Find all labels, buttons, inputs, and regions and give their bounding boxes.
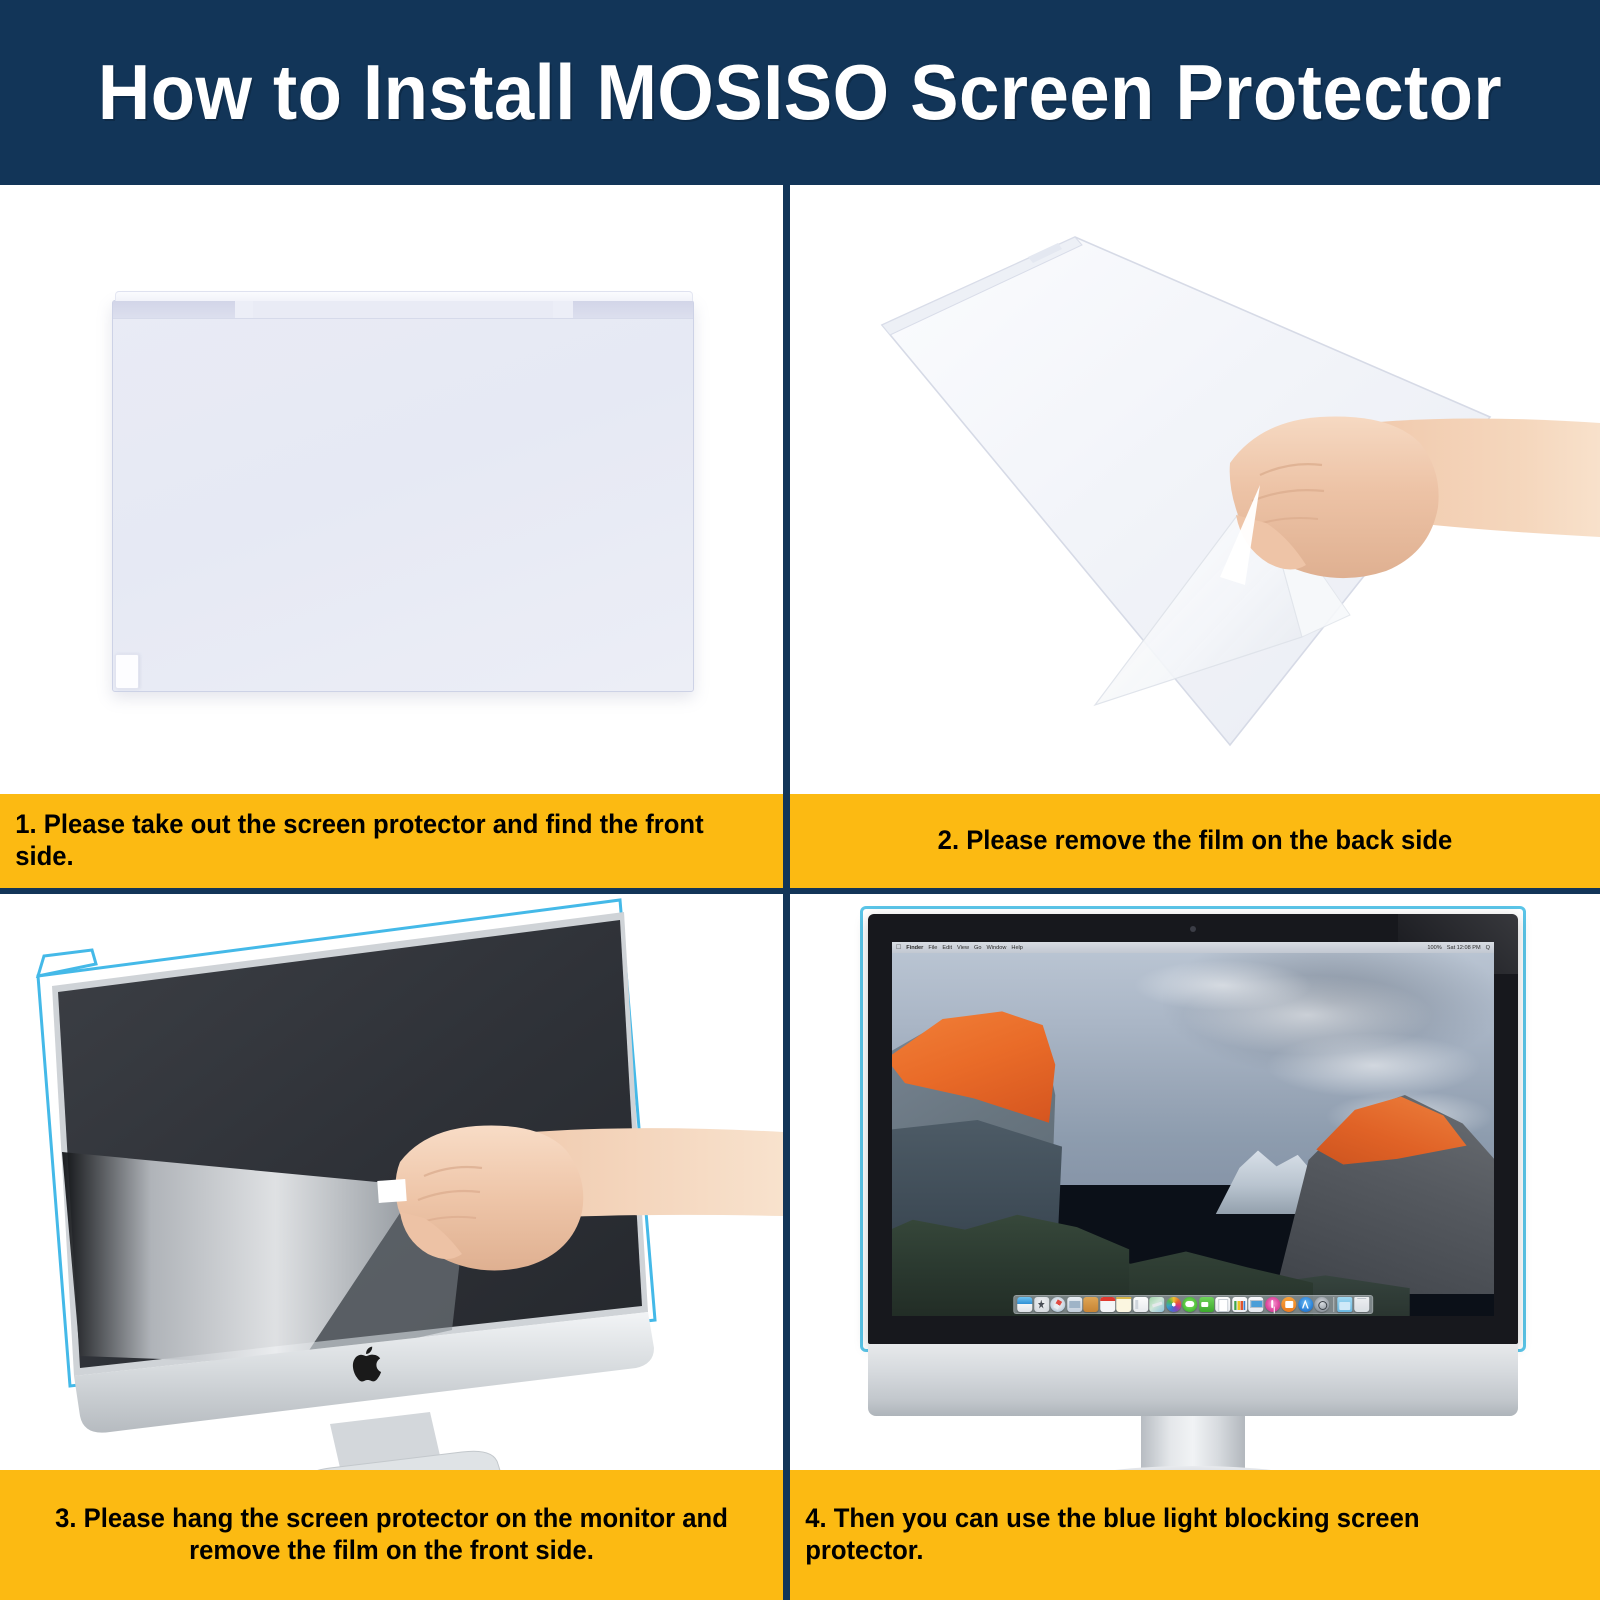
step-2-caption-text: 2. Please remove the film on the back si… [810, 825, 1580, 857]
mail-icon[interactable] [1067, 1297, 1082, 1312]
numbers-icon[interactable] [1232, 1297, 1247, 1312]
steps-grid: 1. Please take out the screen protector … [0, 185, 1600, 1600]
step-2-caption-bar: 2. Please remove the film on the back si… [790, 794, 1600, 888]
macos-menu-bar[interactable]:  Finder File Edit View Go Window Help [892, 942, 1494, 953]
launchpad-icon[interactable] [1034, 1297, 1049, 1312]
maps-icon[interactable] [1149, 1297, 1164, 1312]
menu-item-edit[interactable]: Edit [942, 945, 952, 951]
clock-status[interactable]: Sat 12:08 PM [1447, 945, 1481, 951]
wallpaper-cloud-2 [1265, 1033, 1482, 1098]
spotlight-icon[interactable]: Q [1486, 945, 1490, 951]
monitor-chin [868, 1344, 1518, 1416]
finder-icon[interactable] [1017, 1297, 1032, 1312]
downloads-folder-icon[interactable] [1337, 1297, 1352, 1312]
dock-separator [1333, 1297, 1334, 1312]
menu-item-view[interactable]: View [957, 945, 969, 951]
horizontal-divider [0, 888, 1600, 894]
step-4-panel:  Finder File Edit View Go Window Help [790, 894, 1600, 1600]
itunes-icon[interactable] [1265, 1297, 1280, 1312]
step-2-panel: 2. Please remove the film on the back si… [790, 185, 1600, 888]
desktop-wallpaper [892, 953, 1494, 1316]
reminders-icon[interactable] [1133, 1297, 1148, 1312]
step-4-caption-bar: 4. Then you can use the blue light block… [790, 1470, 1600, 1600]
step-3-caption-bar: 3. Please hang the screen protector on t… [0, 1470, 783, 1600]
sheet-notch-gap [253, 301, 553, 318]
menu-item-file[interactable]: File [928, 945, 937, 951]
hanging-tab-notch-left [235, 301, 253, 318]
notes-icon[interactable] [1116, 1297, 1131, 1312]
page-title: How to Install MOSISO Screen Protector [98, 47, 1502, 138]
contacts-icon[interactable] [1083, 1297, 1098, 1312]
step-1-panel: 1. Please take out the screen protector … [0, 185, 783, 888]
screen-protector-sheet [112, 300, 694, 692]
wallpaper-cloud-3 [1133, 960, 1314, 1011]
photos-icon[interactable] [1166, 1297, 1181, 1312]
hanging-tab-notch-right [553, 301, 573, 318]
hand-peeling-film-graphic [790, 185, 1600, 794]
calendar-icon[interactable] [1100, 1297, 1115, 1312]
system-preferences-icon[interactable] [1314, 1297, 1329, 1312]
apple-menu-icon[interactable]:  [896, 944, 901, 951]
step-1-caption-text: 1. Please take out the screen protector … [0, 809, 744, 873]
step-4-caption-text: 4. Then you can use the blue light block… [790, 1503, 1560, 1567]
step-2-illustration [790, 185, 1600, 888]
instruction-infographic: How to Install MOSISO Screen Protector 1… [0, 0, 1600, 1600]
monitor-screen:  Finder File Edit View Go Window Help [892, 942, 1494, 1316]
imac-display:  Finder File Edit View Go Window Help [868, 914, 1518, 1344]
macos-dock[interactable] [1013, 1295, 1373, 1314]
pages-icon[interactable] [1215, 1297, 1230, 1312]
menu-item-help[interactable]: Help [1011, 945, 1023, 951]
facetime-icon[interactable] [1199, 1297, 1214, 1312]
webcam-icon [1190, 926, 1196, 932]
step-3-caption-text: 3. Please hang the screen protector on t… [20, 1503, 764, 1567]
messages-icon[interactable] [1182, 1297, 1197, 1312]
trash-icon[interactable] [1354, 1297, 1369, 1312]
battery-status[interactable]: 100% [1427, 945, 1441, 951]
header-banner: How to Install MOSISO Screen Protector [0, 0, 1600, 185]
safari-icon[interactable] [1050, 1297, 1065, 1312]
peel-tab-corner [115, 654, 139, 689]
imac-peel-front-film-graphic [0, 894, 783, 1470]
ibooks-icon[interactable] [1281, 1297, 1296, 1312]
menu-item-go[interactable]: Go [974, 945, 981, 951]
menu-item-window[interactable]: Window [987, 945, 1007, 951]
menu-item-finder[interactable]: Finder [906, 945, 923, 951]
step-3-panel: 3. Please hang the screen protector on t… [0, 894, 783, 1600]
step-1-illustration [0, 185, 783, 888]
app-store-icon[interactable] [1298, 1297, 1313, 1312]
keynote-icon[interactable] [1248, 1297, 1263, 1312]
pinched-film-tab [377, 1179, 406, 1203]
step-1-caption-bar: 1. Please take out the screen protector … [0, 794, 783, 888]
